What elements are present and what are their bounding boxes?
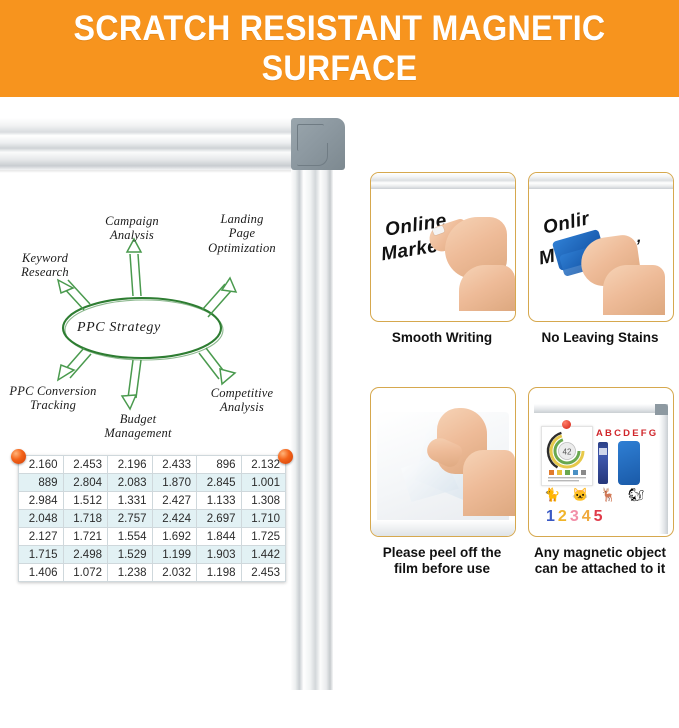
mini-right-rail xyxy=(659,404,668,534)
mini-whiteboard: 42 ABCDEFG xyxy=(534,404,668,534)
number-magnets: 12345 xyxy=(546,508,606,526)
poster-donut-chart: 42 xyxy=(542,427,592,485)
table-row: 8892.8042.0831.8702.8451.001 xyxy=(19,474,286,492)
table-cell: 1.199 xyxy=(152,546,197,564)
photo-peel-film xyxy=(370,387,516,537)
table-cell: 889 xyxy=(19,474,64,492)
table-cell: 1.133 xyxy=(197,492,242,510)
animal-magnet-1: 🐱 xyxy=(572,488,588,501)
magnetic-data-table-sheet: 2.1602.4532.1962.4338962.1328892.8042.08… xyxy=(18,455,286,595)
number-magnet-4: 4 xyxy=(582,508,594,525)
table-cell: 1.406 xyxy=(19,564,64,582)
table-cell: 2.424 xyxy=(152,510,197,528)
mindmap-branch-budget-management: Budget Management xyxy=(86,412,190,441)
header-banner: SCRATCH RESISTANT MAGNETIC SURFACE xyxy=(0,0,679,97)
feature-panel-grid: Online Marketi Smooth Writing Onlir M , … xyxy=(370,172,676,652)
feature-panel-peel-film[interactable]: Please peel off the film before use xyxy=(370,387,514,578)
table-cell: 2.453 xyxy=(241,564,286,582)
caption-no-leaving-stains: No Leaving Stains xyxy=(528,330,672,346)
whiteboard: PPC Strategy Keyword Research Campaign A… xyxy=(0,110,362,679)
data-table: 2.1602.4532.1962.4338962.1328892.8042.08… xyxy=(18,455,286,582)
number-magnet-1: 1 xyxy=(546,508,558,525)
table-cell: 1.238 xyxy=(108,564,153,582)
photo-smooth-writing: Online Marketi xyxy=(370,172,516,322)
feature-panel-magnetic-objects[interactable]: 42 ABCDEFG xyxy=(528,387,672,578)
table-cell: 1.512 xyxy=(63,492,108,510)
caption-smooth-writing: Smooth Writing xyxy=(370,330,514,346)
table-cell: 2.032 xyxy=(152,564,197,582)
wrist-shape xyxy=(603,265,665,315)
poster-chart: 42 xyxy=(541,426,593,486)
table-cell: 1.331 xyxy=(108,492,153,510)
alphabet-magnets: ABCDEFG xyxy=(596,428,658,439)
board-edge-shape xyxy=(371,520,515,536)
poster-legend-swatches xyxy=(549,470,586,475)
table-cell: 1.001 xyxy=(241,474,286,492)
table-cell: 1.529 xyxy=(108,546,153,564)
table-cell: 896 xyxy=(197,456,242,474)
table-cell: 1.442 xyxy=(241,546,286,564)
ppc-strategy-mindmap: PPC Strategy Keyword Research Campaign A… xyxy=(0,168,300,488)
whiteboard-top-frame-rail xyxy=(0,118,312,170)
photo-no-leaving-stains: Onlir M , xyxy=(528,172,674,322)
table-cell: 1.718 xyxy=(63,510,108,528)
feature-panel-no-leaving-stains[interactable]: Onlir M , No Leaving Stains xyxy=(528,172,672,346)
table-cell: 2.697 xyxy=(197,510,242,528)
table-cell: 2.845 xyxy=(197,474,242,492)
wrist-shape xyxy=(463,450,515,516)
mindmap-branch-keyword-research: Keyword Research xyxy=(2,251,88,280)
table-cell: 1.715 xyxy=(19,546,64,564)
table-cell: 1.072 xyxy=(63,564,108,582)
table-row: 2.9841.5121.3312.4271.1331.308 xyxy=(19,492,286,510)
table-cell: 1.725 xyxy=(241,528,286,546)
photo-magnetic-objects: 42 ABCDEFG xyxy=(528,387,674,537)
number-magnet-2: 2 xyxy=(558,508,570,525)
caption-magnetic-objects: Any magnetic object can be attached to i… xyxy=(528,545,672,578)
magnet-left[interactable] xyxy=(11,449,26,464)
mini-top-rail xyxy=(534,404,668,413)
mindmap-branch-landing-page-optimization: Landing Page Optimization xyxy=(190,212,294,255)
table-cell: 1.710 xyxy=(241,510,286,528)
table-cell: 2.127 xyxy=(19,528,64,546)
table-row: 2.0481.7182.7572.4242.6971.710 xyxy=(19,510,286,528)
mini-corner-cap xyxy=(655,404,668,415)
eraser-magnet-icon xyxy=(618,441,640,485)
mindmap-branch-competitive-analysis: Competitive Analysis xyxy=(196,386,288,415)
wrist-shape xyxy=(459,265,515,311)
table-cell: 2.757 xyxy=(108,510,153,528)
banner-title: SCRATCH RESISTANT MAGNETIC SURFACE xyxy=(27,9,652,87)
feature-panel-smooth-writing[interactable]: Online Marketi Smooth Writing xyxy=(370,172,514,346)
number-magnet-5: 5 xyxy=(594,508,606,525)
table-cell: 1.554 xyxy=(108,528,153,546)
animal-magnet-3: 🐿 xyxy=(628,488,645,501)
table-cell: 2.433 xyxy=(152,456,197,474)
whiteboard-corner-cap xyxy=(291,118,345,170)
table-cell: 2.984 xyxy=(19,492,64,510)
animal-magnet-2: 🦌 xyxy=(600,488,616,501)
table-cell: 2.083 xyxy=(108,474,153,492)
mindmap-branch-campaign-analysis: Campaign Analysis xyxy=(88,214,176,243)
mini-frame-strip xyxy=(529,173,673,189)
table-cell: 1.903 xyxy=(197,546,242,564)
table-cell: 2.498 xyxy=(63,546,108,564)
red-magnet-icon xyxy=(562,420,571,429)
table-cell: 1.870 xyxy=(152,474,197,492)
table-cell: 2.427 xyxy=(152,492,197,510)
table-row: 2.1271.7211.5541.6921.8441.725 xyxy=(19,528,286,546)
mini-frame-strip xyxy=(371,173,515,189)
poster-value: 42 xyxy=(563,448,572,457)
table-cell: 1.692 xyxy=(152,528,197,546)
mindmap-center-label: PPC Strategy xyxy=(77,320,161,336)
mindmap-branch-ppc-conversion-tracking: PPC Conversion Tracking xyxy=(0,384,112,413)
table-row: 1.4061.0721.2382.0321.1982.453 xyxy=(19,564,286,582)
table-cell: 2.048 xyxy=(19,510,64,528)
table-cell: 2.196 xyxy=(108,456,153,474)
table-cell: 2.804 xyxy=(63,474,108,492)
poster-text-lines xyxy=(548,477,586,481)
marker-magnet-icon xyxy=(598,442,608,484)
table-row: 1.7152.4981.5291.1991.9031.442 xyxy=(19,546,286,564)
magnet-right[interactable] xyxy=(278,449,293,464)
table-row: 2.1602.4532.1962.4338962.132 xyxy=(19,456,286,474)
table-cell: 2.453 xyxy=(63,456,108,474)
table-cell: 1.198 xyxy=(197,564,242,582)
caption-peel-film: Please peel off the film before use xyxy=(370,545,514,578)
number-magnet-3: 3 xyxy=(570,508,582,525)
animal-magnet-0: 🐈 xyxy=(544,488,560,501)
table-cell: 1.308 xyxy=(241,492,286,510)
table-cell: 1.844 xyxy=(197,528,242,546)
data-table-body: 2.1602.4532.1962.4338962.1328892.8042.08… xyxy=(19,456,286,582)
handwriting-fragment: , xyxy=(637,229,642,247)
table-cell: 1.721 xyxy=(63,528,108,546)
